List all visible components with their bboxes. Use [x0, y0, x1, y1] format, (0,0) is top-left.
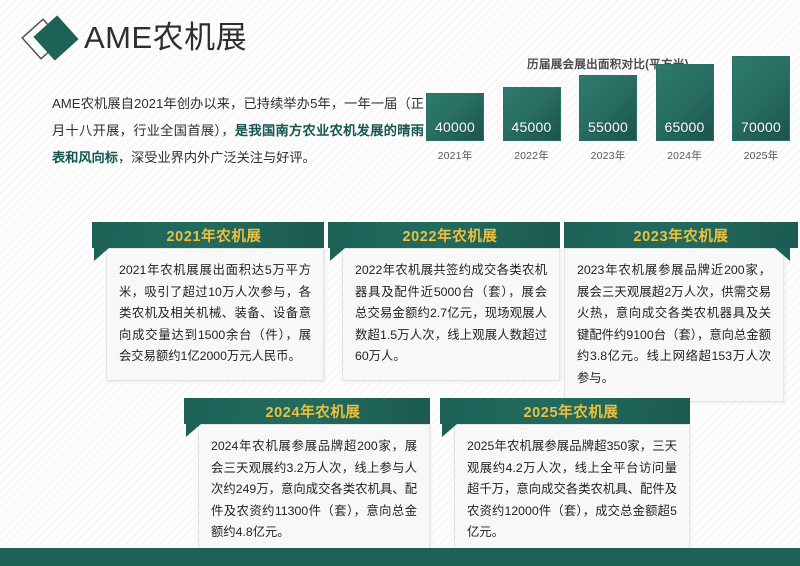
chart-bar: 70000: [732, 56, 790, 141]
card-tail-shape: [94, 248, 109, 261]
intro-paragraph: AME农机展自2021年创办以来，已持续举办5年，一年一届（正月十八开展，行业全…: [52, 90, 424, 171]
card-title: 2025年农机展: [511, 401, 618, 422]
bar-value-label: 40000: [435, 119, 475, 140]
bar-value-label: 65000: [665, 119, 705, 140]
card-body: 2021年农机展展出面积达5万平方米，吸引了超过10万人次参与，各类农机及相关机…: [106, 248, 324, 381]
year-card-2022: 2022年农机展 2022年农机展共签约成交各类农机器具及配件近5000台（套）…: [328, 222, 560, 381]
bottom-accent-bar: [0, 548, 800, 566]
card-body: 2023年农机展参展品牌近200家，展会三天观展超2万人次，供需交易火热，意向成…: [564, 248, 784, 402]
bar-category-label: 2025年: [744, 148, 779, 163]
bar-column: 45000 2022年: [501, 87, 563, 163]
year-card-2024: 2024年农机展 2024年农机展参展品牌超200家，展会三天观展约3.2万人次…: [184, 398, 430, 557]
card-tail-shape: [330, 248, 345, 261]
card-title: 2023年农机展: [633, 225, 728, 246]
page-title: AME农机展: [84, 16, 247, 60]
card-header: 2021年农机展: [92, 222, 324, 248]
card-header: 2025年农机展: [440, 398, 690, 424]
bar-value-label: 55000: [588, 119, 628, 140]
year-card-2021: 2021年农机展 2021年农机展展出面积达5万平方米，吸引了超过10万人次参与…: [92, 222, 324, 381]
card-header: 2024年农机展: [184, 398, 430, 424]
card-header: 2023年农机展: [564, 222, 798, 248]
bar-value-label: 70000: [741, 119, 781, 140]
bar-column: 40000 2021年: [424, 93, 486, 163]
bar-value-label: 45000: [512, 119, 552, 140]
bar-column: 55000 2023年: [577, 75, 639, 163]
card-title: 2021年农机展: [154, 225, 261, 246]
chart-bar: 65000: [656, 64, 714, 141]
intro-text-part2: ，深受业界内外广泛关注与好评。: [118, 150, 316, 165]
bar-category-label: 2024年: [667, 148, 702, 163]
card-tail-shape: [186, 424, 201, 437]
bar-column: 65000 2024年: [654, 64, 716, 163]
chart-bars: 40000 2021年 45000 2022年 55000 2023年 6500…: [424, 78, 792, 163]
year-card-2025: 2025年农机展 2025年农机展参展品牌超350家，三天观展约4.2万人次，线…: [440, 398, 690, 557]
diamond-logo-icon: [20, 14, 82, 66]
bar-column: 70000 2025年: [730, 56, 792, 163]
bar-category-label: 2022年: [514, 148, 549, 163]
chart-bar: 55000: [579, 75, 637, 141]
chart-bar: 45000: [503, 87, 561, 141]
card-tail-shape: [442, 424, 457, 437]
year-card-2023: 2023年农机展 2023年农机展参展品牌近200家，展会三天观展超2万人次，供…: [564, 222, 798, 402]
card-tail-shape: [775, 248, 790, 261]
card-body: 2022年农机展共签约成交各类农机器具及配件近5000台（套），展会总交易金额约…: [342, 248, 560, 381]
card-title: 2024年农机展: [253, 401, 360, 422]
card-title: 2022年农机展: [390, 225, 497, 246]
bar-category-label: 2021年: [438, 148, 473, 163]
card-body: 2024年农机展参展品牌超200家，展会三天观展约3.2万人次，线上参与人次约2…: [198, 424, 430, 557]
card-header: 2022年农机展: [328, 222, 560, 248]
exhibition-area-bar-chart: 历届展会展出面积对比(平方米) 40000 2021年 45000 2022年 …: [424, 56, 792, 186]
card-body: 2025年农机展参展品牌超350家，三天观展约4.2万人次，线上全平台访问量超千…: [454, 424, 690, 557]
bar-category-label: 2023年: [591, 148, 626, 163]
chart-bar: 40000: [426, 93, 484, 141]
